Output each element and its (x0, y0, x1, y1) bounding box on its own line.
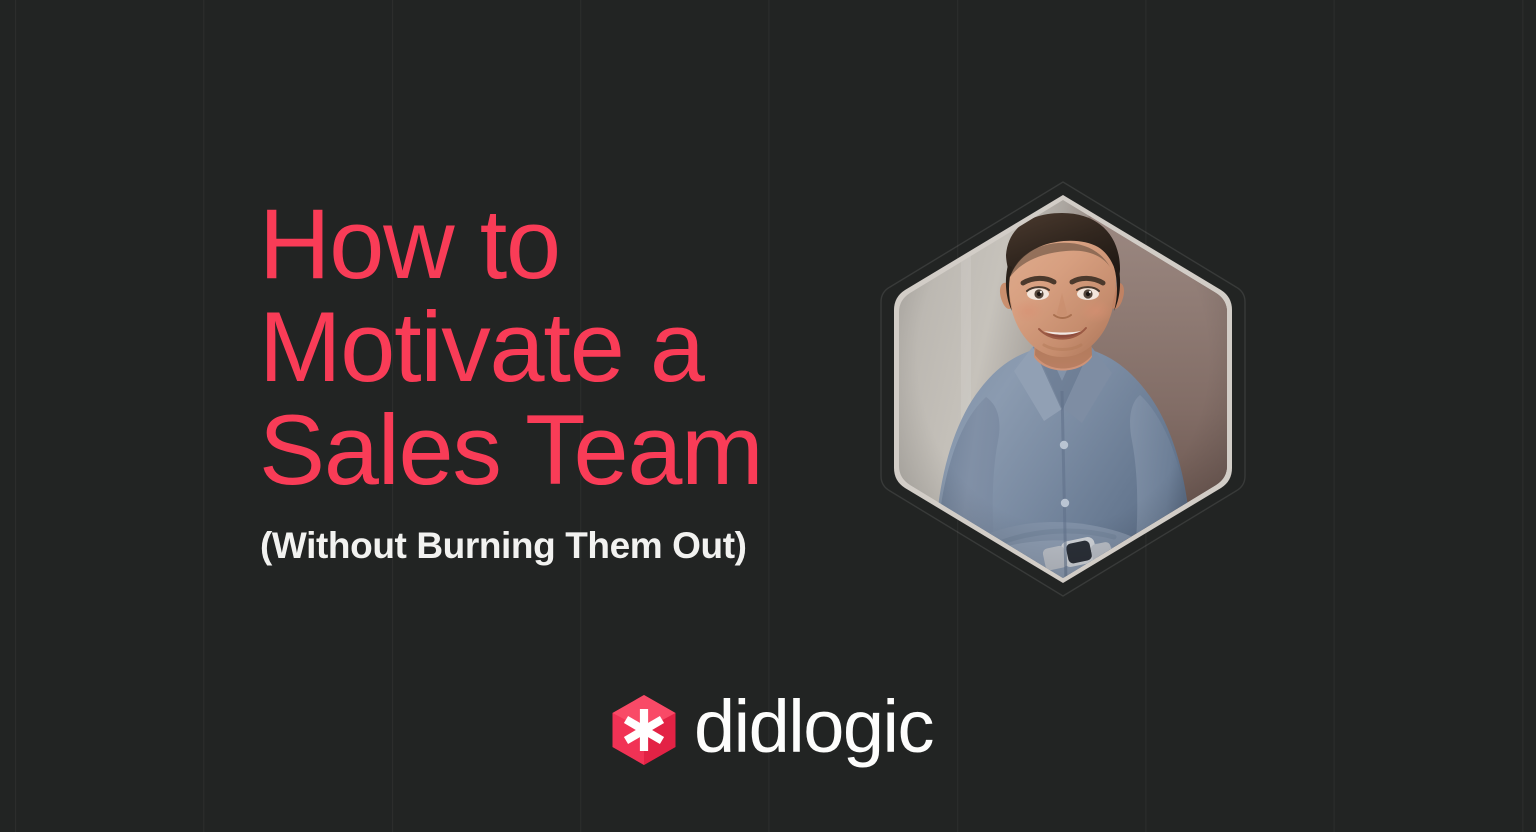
page-title: How to Motivate a Sales Team (259, 192, 879, 501)
didlogic-wordmark: didlogic (694, 690, 933, 764)
portrait (878, 179, 1248, 599)
headline-line-2: Motivate a (259, 295, 879, 398)
portrait-photo-clip (894, 195, 1232, 583)
didlogic-logo[interactable]: didlogic (611, 690, 933, 770)
hexagon-asterisk-icon (611, 694, 677, 766)
cover-canvas: How to Motivate a Sales Team (Without Bu… (0, 0, 1536, 832)
page-subtitle: (Without Burning Them Out) (260, 524, 747, 568)
portrait-hexagon (894, 195, 1232, 583)
headline-line-3: Sales Team (259, 398, 879, 501)
headline-line-1: How to (259, 192, 879, 295)
